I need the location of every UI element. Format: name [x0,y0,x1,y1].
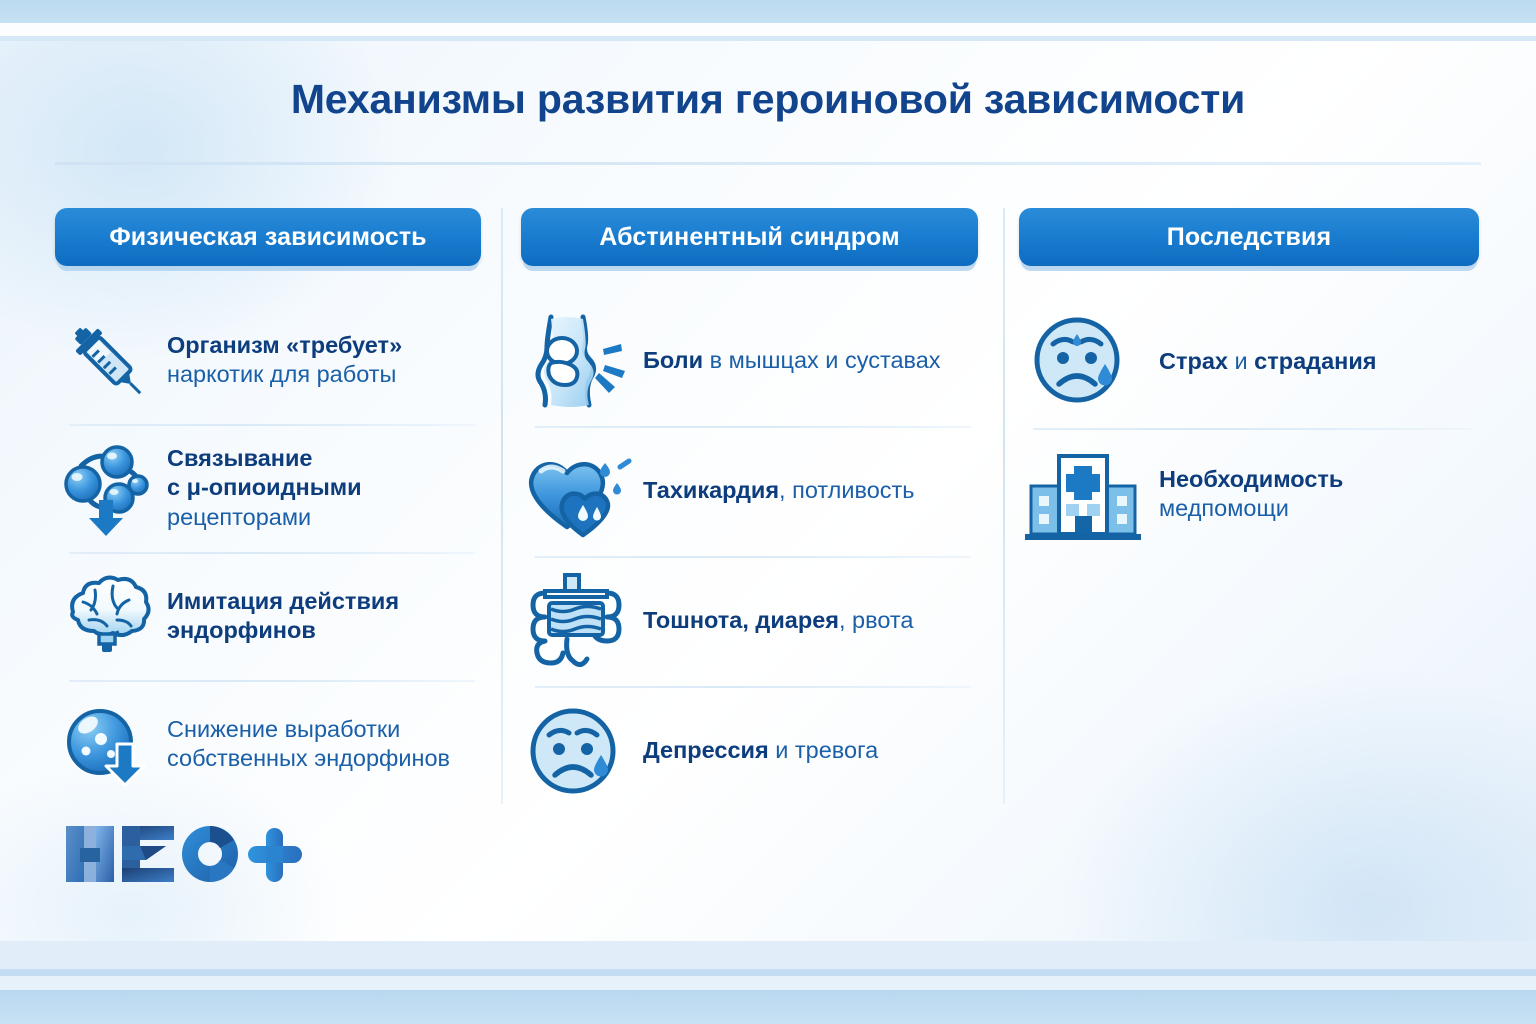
item-divider [1033,428,1471,430]
item-divider [69,552,475,554]
column-header-consequences[interactable]: Последствия [1019,208,1479,266]
column-header-withdrawal-syndrome[interactable]: Абстинентный синдром [521,208,978,266]
bottom-frame-gap [0,976,1536,990]
columns-container: Физическая зависимость [0,208,1536,808]
list-item[interactable]: Имитация действия эндорфинов [55,552,485,680]
sphere-down-arrow-icon [55,692,159,796]
sad-face-tear-icon [1019,310,1147,414]
list-item-text: Связывание с μ-опиоидными рецепторами [167,444,467,531]
item-divider [535,686,971,688]
column-consequences: Последствия [1019,208,1481,560]
list-item-text: Имитация действия эндорфинов [167,587,467,645]
title-divider [55,162,1481,165]
bottom-frame-line [0,969,1536,976]
list-item-text-regular: медпомощи [1159,495,1289,521]
list-item-text: Необходимость медпомощи [1159,465,1459,523]
column-separator-1 [501,208,503,804]
list-item-text: Организм «требует» наркотик для работы [167,331,467,389]
list-item-text: Страх и страдания [1159,347,1459,376]
list-item-text-regular: в мышцах и суставах [703,347,941,373]
list-item-text-regular: и тревога [769,737,879,763]
list-item-text-bold-2: эндорфинов [167,617,316,643]
column-separator-2 [1003,208,1005,804]
item-divider [69,680,475,682]
list-item-text-regular-2: собственных эндорфинов [167,745,450,771]
top-frame-gap [0,23,1536,36]
list-item-text-regular: рецепторами [167,504,311,530]
column-withdrawal-syndrome: Абстинентный синдром [521,208,981,816]
column-header-label: Абстинентный синдром [521,223,978,252]
hospital-icon [1019,442,1147,546]
knee-joint-pain-icon [521,309,633,413]
top-frame-line [0,36,1536,41]
list-item-text: Снижение выработки собственных эндорфино… [167,715,467,773]
list-item[interactable]: Снижение выработки собственных эндорфино… [55,680,485,808]
list-item[interactable]: Боли в мышцах и суставах [521,296,981,426]
list-item-text-bold: Боли [643,347,703,373]
column-header-label: Физическая зависимость [55,223,481,252]
list-item-text: Боли в мышцах и суставах [643,346,973,375]
top-frame-bar [0,0,1536,23]
column-items-physical: Организм «требует» наркотик для работы [55,296,485,808]
sad-face-tear-icon [521,699,633,803]
list-item-text-regular: наркотик для работы [167,361,396,387]
list-item[interactable]: Организм «требует» наркотик для работы [55,296,485,424]
intestine-icon [521,569,633,673]
list-item-text: Тахикардия, потливость [643,476,973,505]
column-items-withdrawal: Боли в мышцах и суставах [521,296,981,816]
brand-logo [62,818,302,890]
list-item[interactable]: Депрессия и тревога [521,686,981,816]
bottom-frame-wash [0,941,1536,969]
list-item-text-regular: , рвота [839,607,913,633]
list-item-text-bold: Необходимость [1159,466,1343,492]
list-item[interactable]: Страх и страдания [1019,296,1481,428]
list-item-text-bold: Имитация действия [167,588,399,614]
molecule-receptor-binding-icon [55,436,159,540]
list-item[interactable]: Тошнота, диарея, рвота [521,556,981,686]
item-divider [69,424,475,426]
list-item[interactable]: Необходимость медпомощи [1019,428,1481,560]
list-item-text: Тошнота, диарея, рвота [643,606,973,635]
page-title: Механизмы развития героиновой зависимост… [0,76,1536,123]
list-item-text-regular: Снижение выработки [167,716,400,742]
bottom-frame-bar [0,990,1536,1024]
list-item-text: Депрессия и тревога [643,736,973,765]
column-header-physical-dependence[interactable]: Физическая зависимость [55,208,481,266]
list-item-text-bold: Организм «требует» [167,332,402,358]
list-item[interactable]: Связывание с μ-опиоидными рецепторами [55,424,485,552]
list-item-text-bold-2: страдания [1254,348,1376,374]
list-item-text-bold: Тахикардия [643,477,779,503]
heart-sweat-icon [521,439,633,543]
list-item-text-bold-2: с μ-опиоидными [167,474,362,500]
list-item[interactable]: Тахикардия, потливость [521,426,981,556]
item-divider [535,426,971,428]
list-item-text-bold: Тошнота, диарея [643,607,839,633]
list-item-text-regular: и [1228,348,1254,374]
column-items-consequences: Страх и страдания [1019,296,1481,560]
list-item-text-bold: Связывание [167,445,313,471]
list-item-text-bold: Депрессия [643,737,769,763]
column-physical-dependence: Физическая зависимость [55,208,485,808]
syringe-icon [55,308,159,412]
item-divider [535,556,971,558]
list-item-text-bold: Страх [1159,348,1228,374]
infographic-slide: Механизмы развития героиновой зависимост… [0,0,1536,1024]
brain-icon [55,564,159,668]
list-item-text-regular: , потливость [779,477,914,503]
column-header-label: Последствия [1019,223,1479,252]
